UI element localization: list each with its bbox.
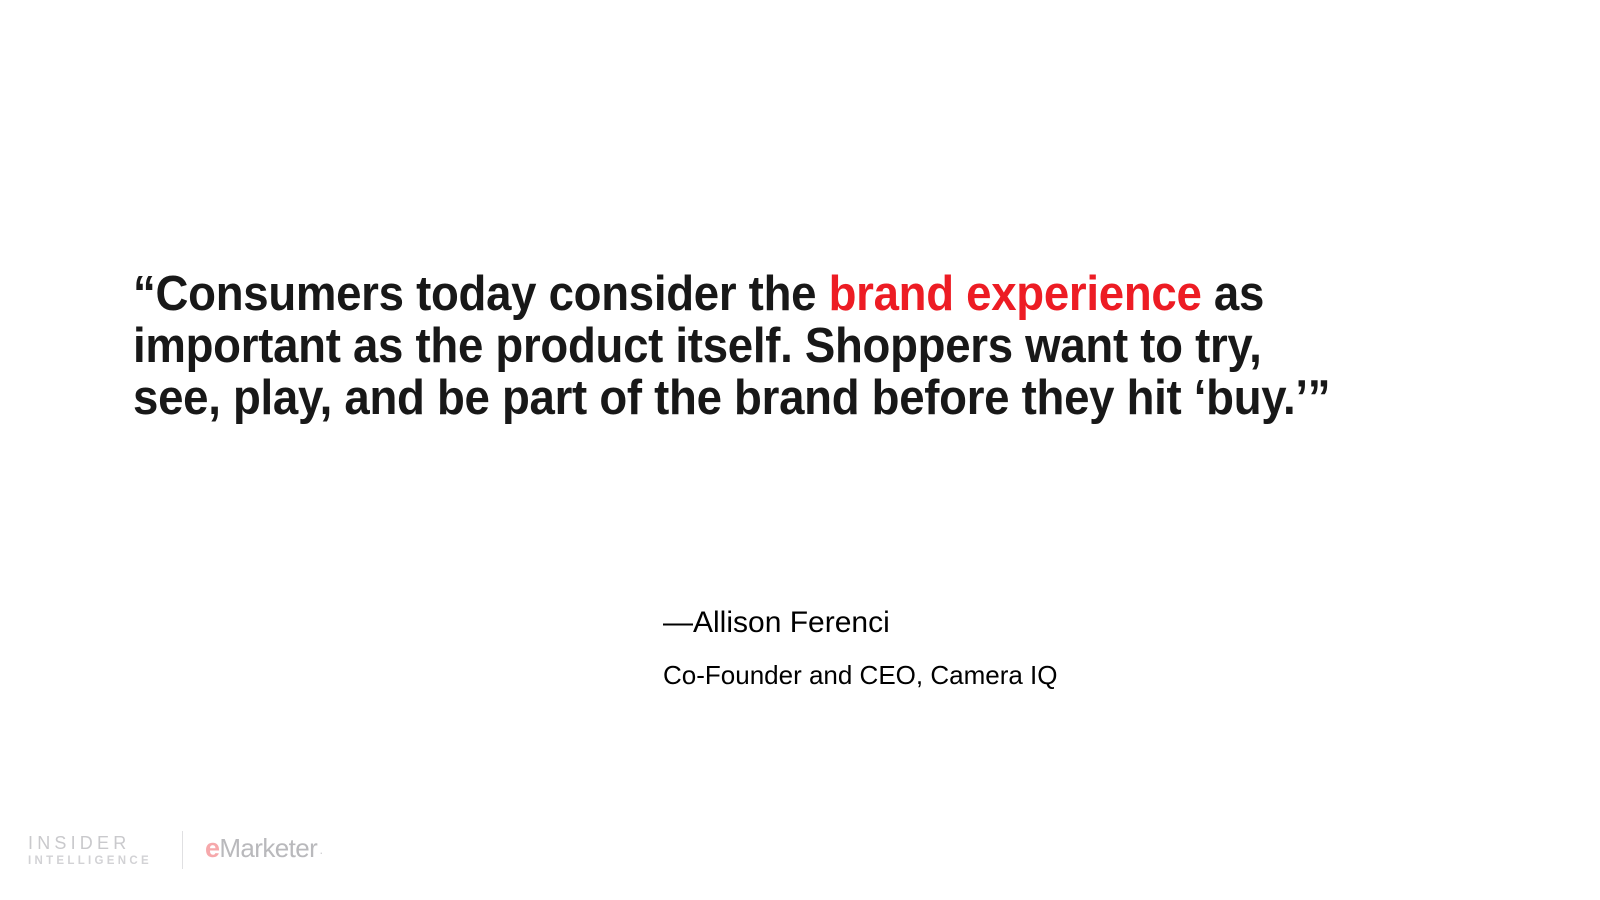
insider-intelligence-logo: INSIDER INTELLIGENCE: [28, 833, 152, 868]
quote-text: “Consumers today consider the brand expe…: [133, 268, 1342, 424]
quote-segment-1: “Consumers today consider the: [133, 267, 829, 321]
emarketer-trademark-icon: ·: [317, 840, 323, 866]
attribution: —Allison Ferenci Co-Founder and CEO, Cam…: [663, 604, 1058, 691]
quote-block: “Consumers today consider the brand expe…: [133, 268, 1433, 424]
intelligence-logo-wordmark: INTELLIGENCE: [28, 854, 152, 868]
attribution-role: Co-Founder and CEO, Camera IQ: [663, 642, 1058, 691]
emarketer-logo-wordmark: Marketer: [219, 835, 317, 861]
insider-logo-wordmark: INSIDER: [28, 833, 152, 854]
quote-highlight: brand experience: [829, 267, 1202, 321]
emarketer-logo: e Marketer ·: [205, 835, 323, 866]
emarketer-logo-e: e: [205, 835, 219, 861]
logo-divider: [182, 831, 183, 869]
footer-logo-lockup: INSIDER INTELLIGENCE e Marketer ·: [28, 826, 323, 874]
attribution-name: —Allison Ferenci: [663, 604, 1058, 642]
